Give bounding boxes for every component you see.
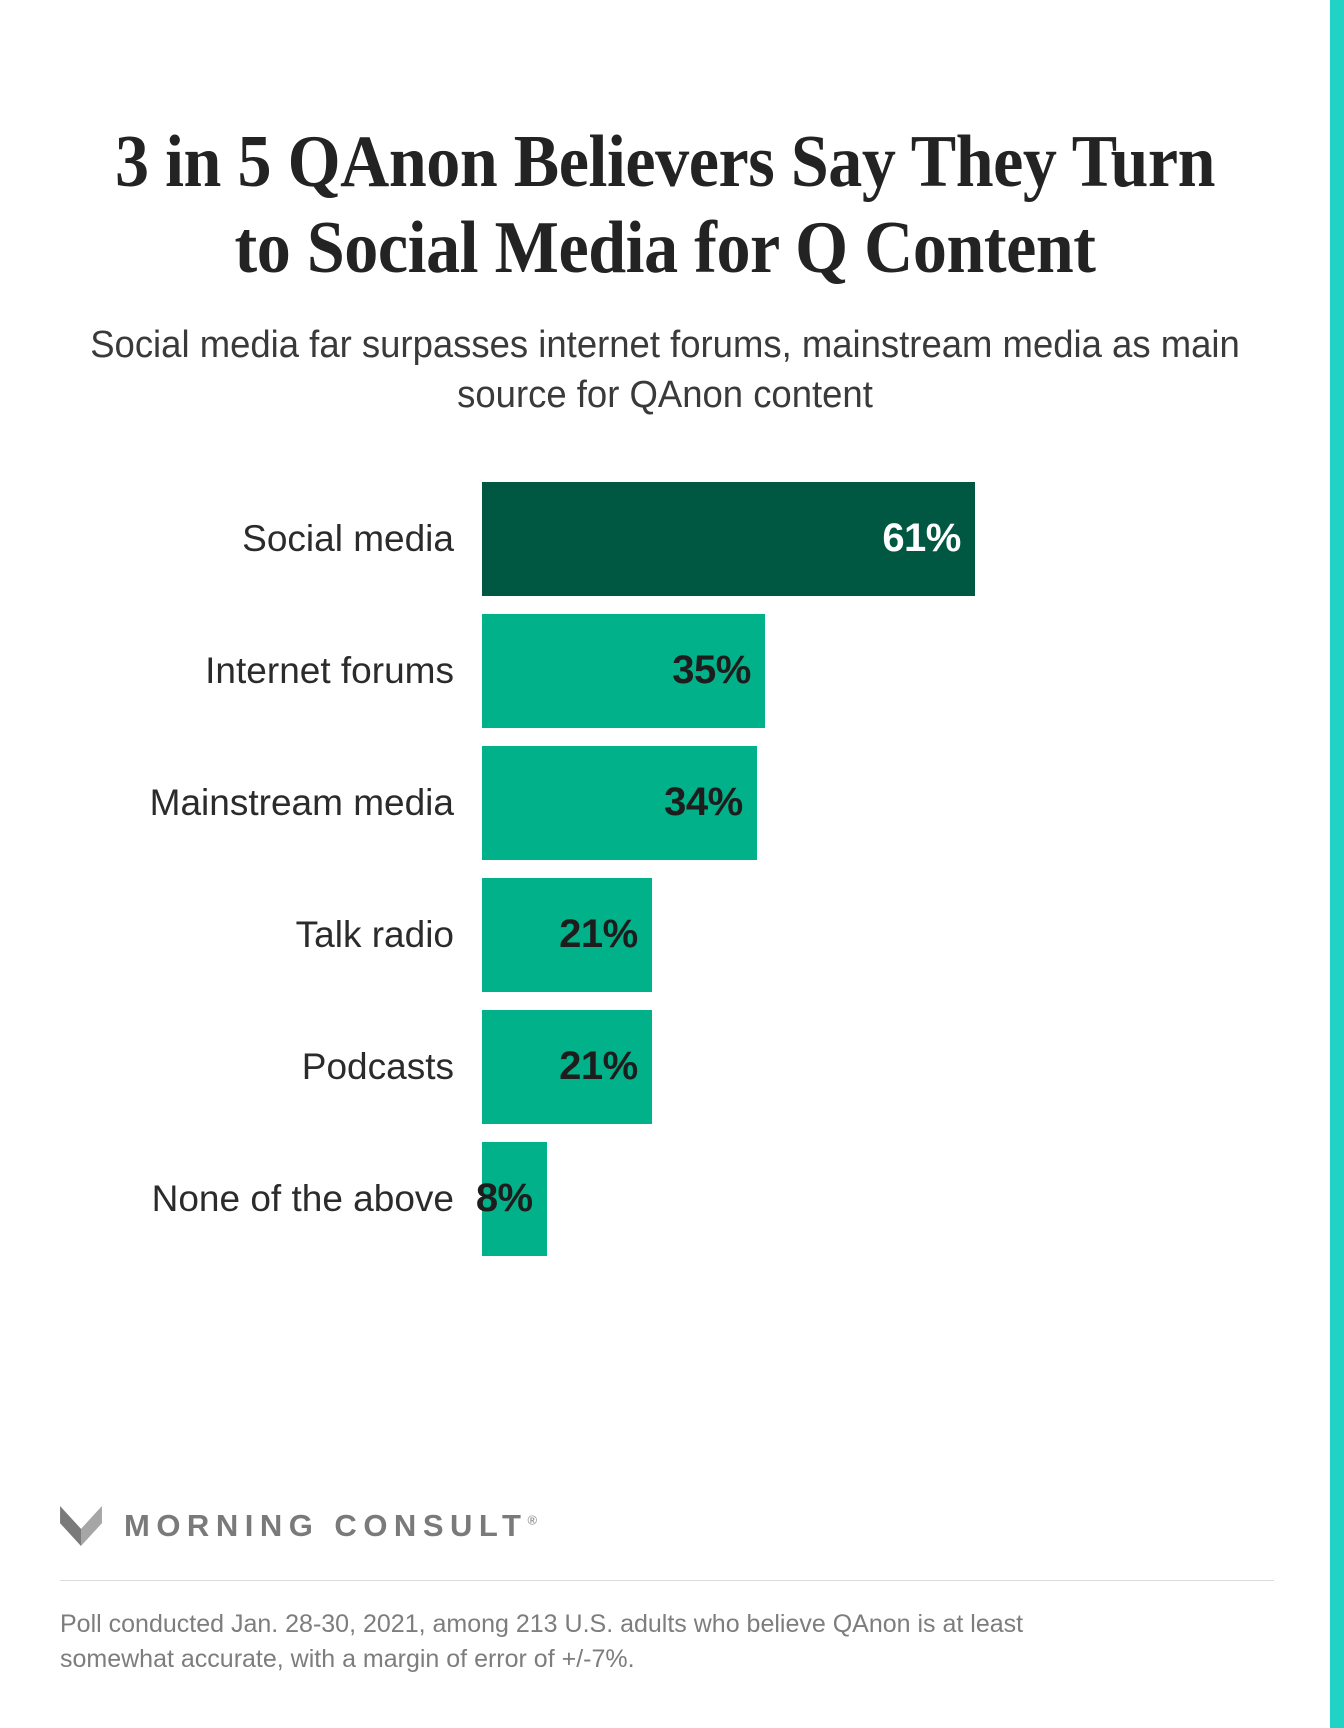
bar-category-label: Mainstream media bbox=[60, 784, 482, 823]
brand-name: MORNING CONSULT® bbox=[124, 1508, 537, 1544]
morning-consult-chevron-icon bbox=[60, 1506, 102, 1546]
bar[interactable]: 21% bbox=[482, 1010, 652, 1124]
content-area: 3 in 5 QAnon Believers Say They Turn to … bbox=[0, 0, 1330, 1728]
footer: MORNING CONSULT® Poll conducted Jan. 28-… bbox=[60, 1506, 1274, 1676]
bar-category-label: Internet forums bbox=[60, 652, 482, 691]
bar[interactable]: 61% bbox=[482, 482, 975, 596]
bar-value-label: 8% bbox=[476, 1176, 533, 1221]
bar-value-label: 21% bbox=[559, 1044, 638, 1089]
bar-category-label: None of the above bbox=[60, 1180, 482, 1219]
bar-track: 21% bbox=[482, 878, 1270, 992]
bar-value-label: 61% bbox=[882, 516, 961, 561]
bar-track: 8% bbox=[482, 1142, 1270, 1256]
methodology-note: Poll conducted Jan. 28-30, 2021, among 2… bbox=[60, 1607, 1140, 1676]
bar-category-label: Podcasts bbox=[60, 1048, 482, 1087]
page-subtitle: Social media far surpasses internet foru… bbox=[84, 320, 1246, 420]
accent-rail bbox=[1330, 0, 1344, 1728]
bar-row: None of the above8% bbox=[60, 1142, 1270, 1256]
bar-row: Talk radio21% bbox=[60, 878, 1270, 992]
bar-track: 21% bbox=[482, 1010, 1270, 1124]
bar-category-label: Talk radio bbox=[60, 916, 482, 955]
infographic-page: 3 in 5 QAnon Believers Say They Turn to … bbox=[0, 0, 1344, 1728]
footer-divider bbox=[60, 1580, 1274, 1581]
bar-track: 34% bbox=[482, 746, 1270, 860]
bar-value-label: 21% bbox=[559, 912, 638, 957]
bar[interactable]: 34% bbox=[482, 746, 757, 860]
bar-row: Mainstream media34% bbox=[60, 746, 1270, 860]
page-title: 3 in 5 QAnon Believers Say They Turn to … bbox=[108, 120, 1221, 292]
bar-row: Podcasts21% bbox=[60, 1010, 1270, 1124]
bar[interactable]: 35% bbox=[482, 614, 765, 728]
bar[interactable]: 21% bbox=[482, 878, 652, 992]
bar-track: 35% bbox=[482, 614, 1270, 728]
bar-row: Internet forums35% bbox=[60, 614, 1270, 728]
bar-track: 61% bbox=[482, 482, 1270, 596]
brand-wordmark: MORNING CONSULT bbox=[124, 1508, 527, 1543]
registered-mark: ® bbox=[527, 1513, 537, 1528]
bar-category-label: Social media bbox=[60, 520, 482, 559]
bar-value-label: 35% bbox=[672, 648, 751, 693]
brand-logo: MORNING CONSULT® bbox=[60, 1506, 1274, 1580]
bar-row: Social media61% bbox=[60, 482, 1270, 596]
bar-value-label: 34% bbox=[664, 780, 743, 825]
bar-chart: Social media61%Internet forums35%Mainstr… bbox=[60, 482, 1270, 1256]
bar[interactable]: 8% bbox=[482, 1142, 547, 1256]
